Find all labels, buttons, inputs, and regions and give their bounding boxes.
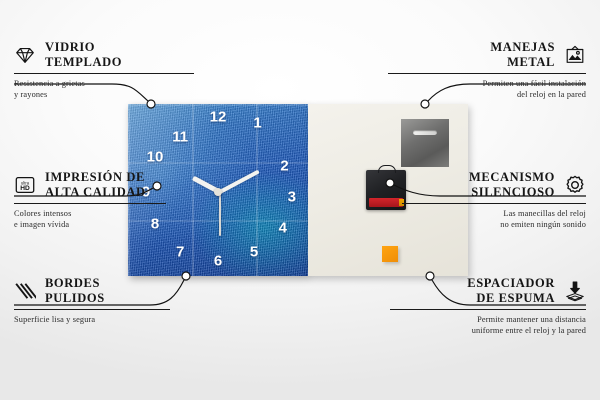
callout-header: ESPACIADOR DE ESPUMA [371,276,586,306]
callout-divider [14,73,194,74]
callout-subtitle-line1: Las manecillas del reloj [371,208,586,219]
callout-divider [388,73,586,74]
callout-title-line2: DE ESPUMA [467,291,555,306]
callout-subtitle: Permiten una fácil instalación del reloj… [371,78,586,101]
callout-subtitle: Superficie lisa y segura [14,314,229,325]
gear-icon [564,174,586,196]
clock-numeral-5: 5 [250,244,258,259]
clock-numeral-10: 10 [147,150,164,165]
callout-vidrio-templado: VIDRIO TEMPLADO Resistencia a grietas y … [14,40,229,100]
callout-title-line1: MECANISMO [469,170,555,185]
diamond-icon [14,44,36,66]
clock-numeral-7: 7 [176,244,184,259]
callout-title-line2: ALTA CALIDAD [45,185,146,200]
ultra-hd-icon: ultra HD [14,174,36,196]
clock-numeral-1: 1 [253,116,261,131]
clock-numeral-2: 2 [280,158,288,173]
callout-title-line1: MANEJAS [490,40,555,55]
callout-subtitle-line1: Colores intensos [14,208,229,219]
callout-subtitle-line2: e imagen vívida [14,219,229,230]
callout-subtitle: Permite mantener una distancia uniforme … [371,314,586,337]
callout-title-line2: PULIDOS [45,291,105,306]
callout-title: MECANISMO SILENCIOSO [469,170,555,200]
callout-header: BORDES PULIDOS [14,276,229,306]
callout-mecanismo-silencioso: MECANISMO SILENCIOSO Las manecillas del … [371,170,586,230]
clock-numeral-11: 11 [172,129,188,144]
callout-subtitle: Colores intensos e imagen vívida [14,208,229,231]
callout-title: MANEJAS METAL [490,40,555,70]
callout-bordes-pulidos: BORDES PULIDOS Superficie lisa y segura [14,276,229,325]
callout-subtitle-line2: del reloj en la pared [371,89,586,100]
callout-title-line2: METAL [490,55,555,70]
callout-divider [14,309,170,310]
callout-title: BORDES PULIDOS [45,276,105,306]
callout-subtitle-line2: y rayones [14,89,229,100]
callout-subtitle-line1: Permiten una fácil instalación [371,78,586,89]
hanging-picture-frame-icon [564,44,586,66]
callout-subtitle-line1: Permite mantener una distancia [371,314,586,325]
callout-title-line1: ESPACIADOR [467,276,555,291]
callout-espaciador-de-espuma: ESPACIADOR DE ESPUMA Permite mantener un… [371,276,586,336]
callout-subtitle: Las manecillas del reloj no emiten ningú… [371,208,586,231]
callout-subtitle-line1: Superficie lisa y segura [14,314,229,325]
svg-text:HD: HD [20,185,30,192]
callout-subtitle: Resistencia a grietas y rayones [14,78,229,101]
callout-subtitle-line2: uniforme entre el reloj y la pared [371,325,586,336]
callout-impresion-alta-calidad: ultra HD IMPRESIÓN DE ALTA CALIDAD Color… [14,170,229,230]
clock-numeral-6: 6 [214,253,222,268]
callout-title: ESPACIADOR DE ESPUMA [467,276,555,306]
callout-title-line1: VIDRIO [45,40,122,55]
callout-header: MECANISMO SILENCIOSO [371,170,586,200]
callout-divider [14,203,166,204]
callout-subtitle-line2: no emiten ningún sonido [371,219,586,230]
callout-title-line1: BORDES [45,276,105,291]
clock-numeral-4: 4 [279,220,287,235]
callout-title-line1: IMPRESIÓN DE [45,170,146,185]
callout-title: VIDRIO TEMPLADO [45,40,122,70]
callout-title-line2: SILENCIOSO [469,185,555,200]
metal-hanger-plate [401,119,449,167]
callout-divider [390,309,586,310]
foam-spacer-pad [382,246,398,262]
clock-numeral-12: 12 [210,110,227,125]
diagonal-lines-icon [14,280,36,302]
callout-header: MANEJAS METAL [371,40,586,70]
clock-numeral-3: 3 [288,189,296,204]
callout-divider [402,203,586,204]
arrow-onto-foam-pad-icon [564,280,586,302]
hanger-slot [413,130,437,135]
infographic-canvas: 12 1 2 3 4 5 6 7 8 9 10 11 [0,0,600,400]
callout-header: VIDRIO TEMPLADO [14,40,229,70]
callout-header: ultra HD IMPRESIÓN DE ALTA CALIDAD [14,170,229,200]
callout-subtitle-line1: Resistencia a grietas [14,78,229,89]
callout-title-line2: TEMPLADO [45,55,122,70]
callout-manejas-metal: MANEJAS METAL Permiten una fácil instala… [371,40,586,100]
callout-title: IMPRESIÓN DE ALTA CALIDAD [45,170,146,200]
